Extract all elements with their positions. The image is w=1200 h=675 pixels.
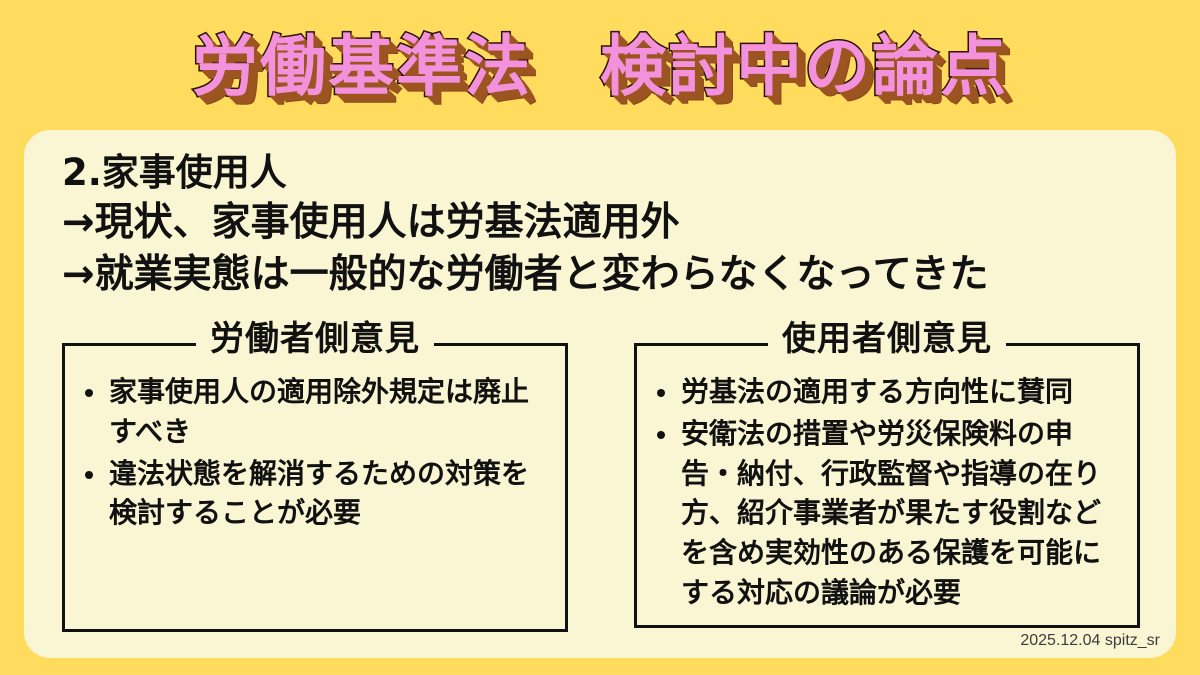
slide-root: 労働基準法 検討中の論点 2.家事使用人 →現状、家事使用人は労基法適用外 →就… bbox=[0, 0, 1200, 675]
list-item-label: 労基法の適用する方向性に賛同 bbox=[681, 375, 1073, 408]
content-card: 2.家事使用人 →現状、家事使用人は労基法適用外 →就業実態は一般的な労働者と変… bbox=[24, 130, 1176, 658]
list-item-label: 違法状態を解消するための対策を検討することが必要 bbox=[109, 457, 529, 530]
list-item: 違法状態を解消するための対策を検討することが必要 bbox=[79, 454, 551, 534]
heading-line-1: 2.家事使用人 bbox=[62, 148, 1152, 197]
opinion-boxes: 労働者側意見 家事使用人の適用除外規定は廃止すべき 違法状態を解消するための対策… bbox=[62, 343, 1140, 632]
opinion-box-employer-legend-label: 使用者側意見 bbox=[768, 321, 1006, 358]
opinion-box-worker: 労働者側意見 家事使用人の適用除外規定は廃止すべき 違法状態を解消するための対策… bbox=[62, 343, 568, 632]
list-item: 家事使用人の適用除外規定は廃止すべき bbox=[79, 372, 551, 452]
bullet-dot-icon bbox=[85, 389, 93, 397]
page-title: 労働基準法 検討中の論点 bbox=[192, 31, 1008, 104]
opinion-box-worker-list: 家事使用人の適用除外規定は廃止すべき 違法状態を解消するための対策を検討すること… bbox=[79, 372, 551, 533]
list-item-label: 家事使用人の適用除外規定は廃止すべき bbox=[109, 375, 529, 448]
footer-credit: 2025.12.04 spitz_sr bbox=[1020, 632, 1160, 650]
opinion-box-employer-legend: 使用者側意見 bbox=[637, 321, 1137, 358]
heading-line-3: →就業実態は一般的な労働者と変わらなくなってきた bbox=[62, 249, 1152, 301]
opinion-box-worker-legend: 労働者側意見 bbox=[65, 321, 565, 358]
opinion-box-employer: 使用者側意見 労基法の適用する方向性に賛同 安衛法の措置や労災保険料の申告・納付… bbox=[634, 343, 1140, 628]
list-item: 労基法の適用する方向性に賛同 bbox=[651, 372, 1123, 412]
opinion-box-worker-legend-label: 労働者側意見 bbox=[196, 321, 434, 358]
bullet-dot-icon bbox=[657, 389, 665, 397]
heading-line-2: →現状、家事使用人は労基法適用外 bbox=[62, 197, 1152, 249]
opinion-box-employer-list: 労基法の適用する方向性に賛同 安衛法の措置や労災保険料の申告・納付、行政監督や指… bbox=[651, 372, 1123, 613]
title-area: 労働基準法 検討中の論点 bbox=[0, 14, 1200, 120]
heading-block: 2.家事使用人 →現状、家事使用人は労基法適用外 →就業実態は一般的な労働者と変… bbox=[62, 148, 1152, 301]
bullet-dot-icon bbox=[85, 471, 93, 479]
list-item: 安衛法の措置や労災保険料の申告・納付、行政監督や指導の在り方、紹介事業者が果たす… bbox=[651, 414, 1123, 613]
bullet-dot-icon bbox=[657, 431, 665, 439]
list-item-label: 安衛法の措置や労災保険料の申告・納付、行政監督や指導の在り方、紹介事業者が果たす… bbox=[681, 417, 1101, 609]
